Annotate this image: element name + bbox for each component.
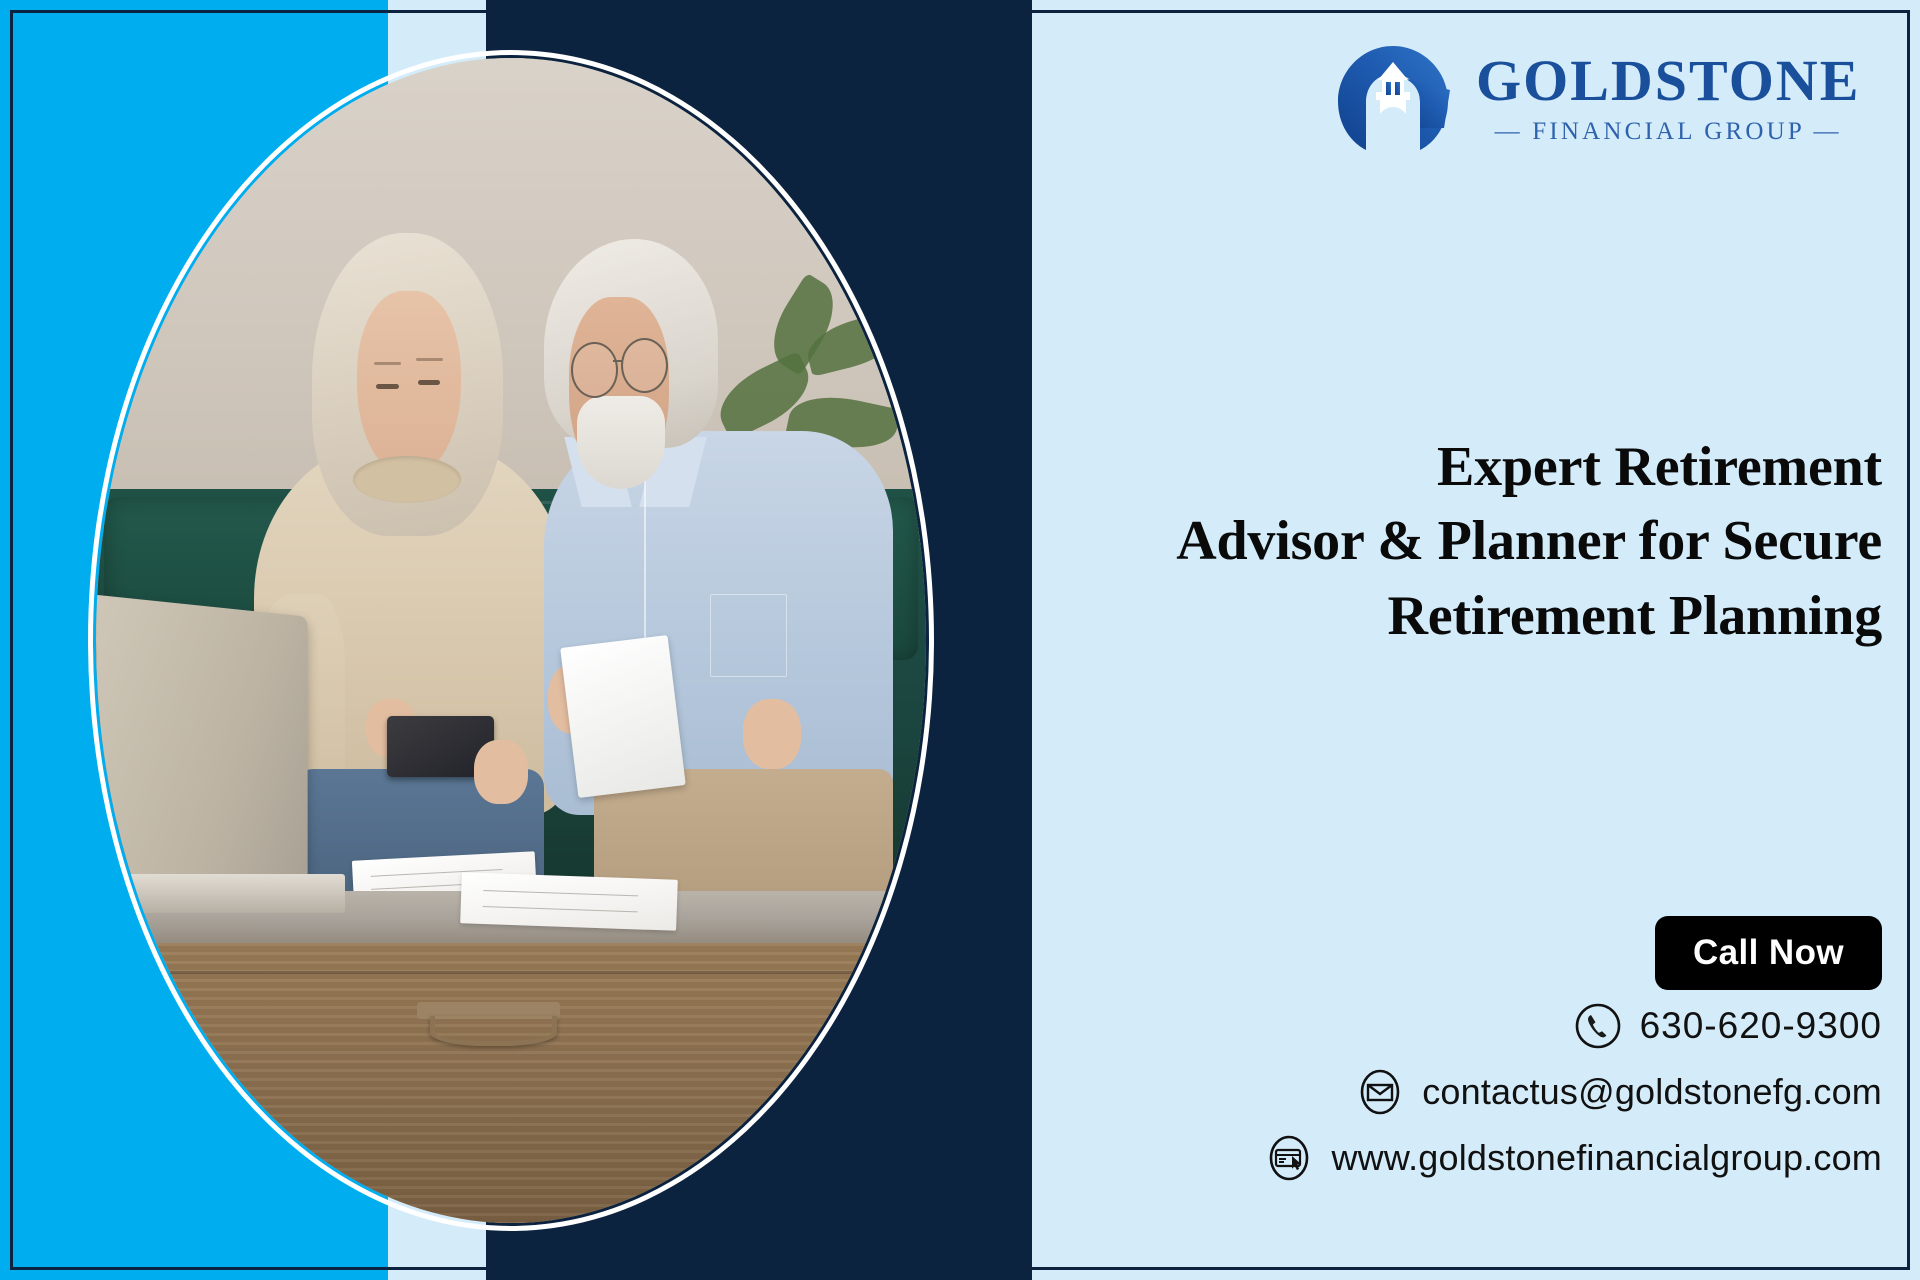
- woman-face: [357, 291, 461, 477]
- lighthouse-circle-icon: [1332, 42, 1454, 154]
- laptop-screen: [96, 593, 308, 921]
- contact-row-phone[interactable]: 630-620-9300: [1574, 1002, 1882, 1050]
- brand-tagline: — FINANCIAL GROUP —: [1476, 119, 1860, 144]
- call-now-button[interactable]: Call Now: [1655, 916, 1882, 990]
- contact-row-email[interactable]: contactus@goldstonefg.com: [1356, 1068, 1882, 1116]
- contact-details: 630-620-9300 contactus@goldstonefg.com: [1265, 1002, 1882, 1182]
- woman-hand-right: [474, 740, 528, 804]
- drawer-handle: [430, 1016, 557, 1046]
- eyeglasses-bridge: [613, 360, 622, 362]
- phone-circle-icon: [1574, 1002, 1622, 1050]
- contact-row-website[interactable]: www.goldstonefinancialgroup.com: [1265, 1134, 1882, 1182]
- man-hand-right: [743, 699, 801, 769]
- brand-name: GOLDSTONE: [1476, 52, 1860, 110]
- hero-photo: [96, 58, 926, 1223]
- marketing-banner: GOLDSTONE — FINANCIAL GROUP — Expert Ret…: [0, 0, 1920, 1280]
- website-url: www.goldstonefinancialgroup.com: [1331, 1137, 1882, 1179]
- headline-line-2: Advisor & Planner for Secure: [1060, 504, 1882, 578]
- document-in-hand: [560, 634, 686, 797]
- wooden-chest-table: [96, 943, 926, 1223]
- eyeglasses-lens-right: [621, 338, 668, 393]
- brand-logo[interactable]: GOLDSTONE — FINANCIAL GROUP —: [1332, 42, 1860, 154]
- website-cursor-circle-icon: [1265, 1134, 1313, 1182]
- photo-scene: [96, 58, 926, 1223]
- laptop-keyboard: [96, 874, 345, 914]
- headline-line-3: Retirement Planning: [1060, 579, 1882, 653]
- email-address: contactus@goldstonefg.com: [1422, 1071, 1882, 1113]
- man-shirt-pocket: [710, 594, 787, 678]
- headline-line-1: Expert Retirement: [1060, 430, 1882, 504]
- envelope-circle-icon: [1356, 1068, 1404, 1116]
- man-beard: [577, 396, 664, 489]
- woman-collar: [353, 456, 461, 503]
- phone-number: 630-620-9300: [1640, 1005, 1882, 1047]
- eyeglasses-lens-left: [571, 342, 618, 397]
- desk-paper-2: [460, 872, 677, 931]
- page-title: Expert Retirement Advisor & Planner for …: [1060, 430, 1882, 653]
